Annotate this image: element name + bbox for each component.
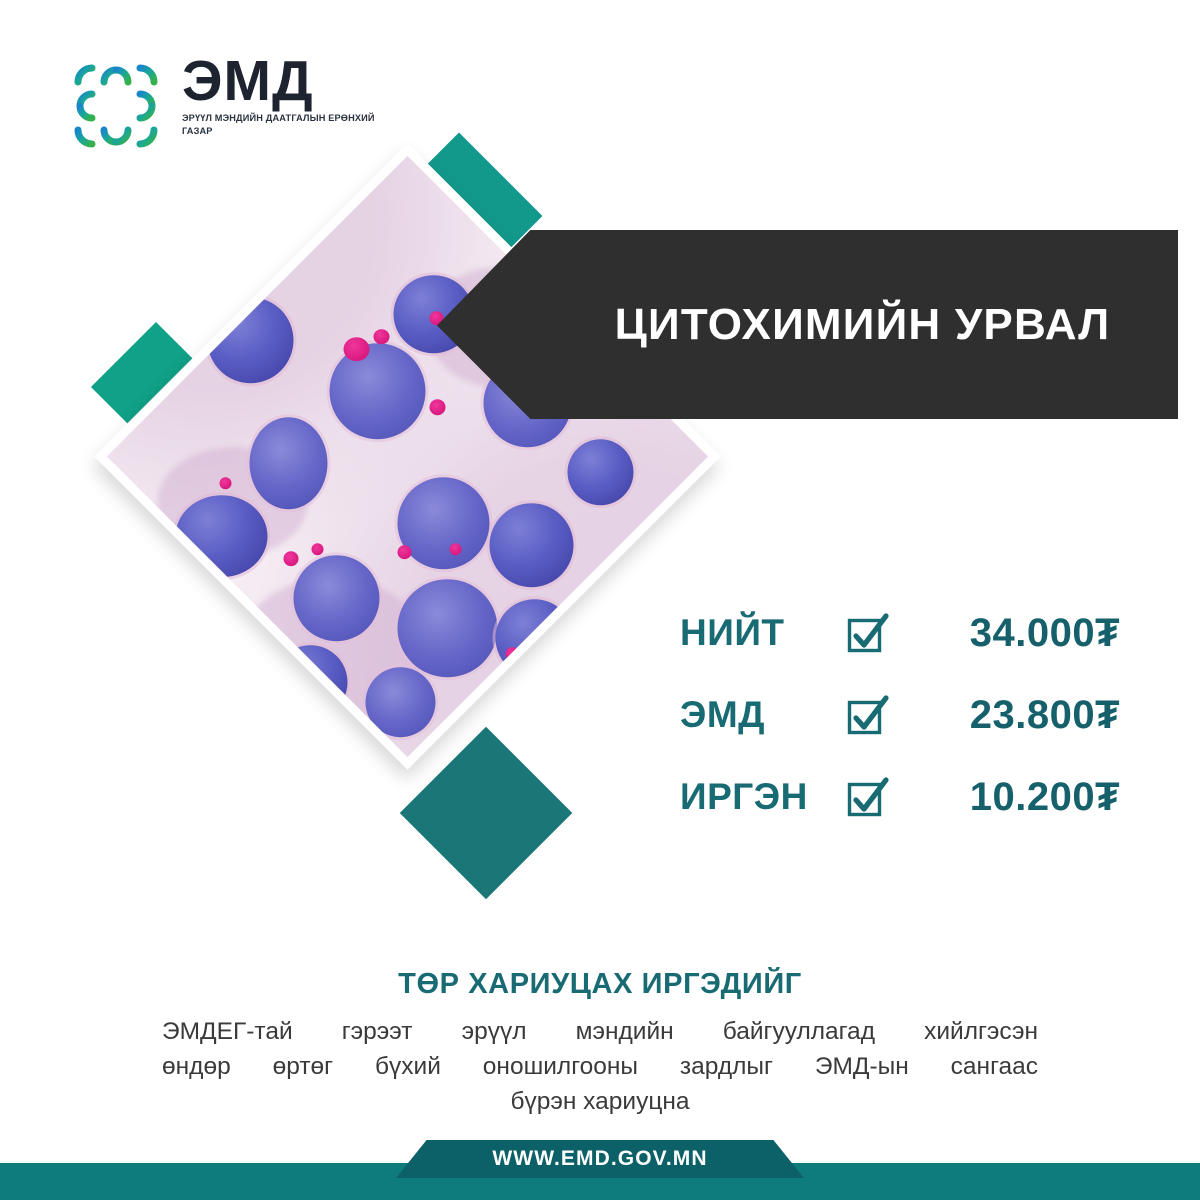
- poster-canvas: ЭМД ЭРҮҮЛ МЭНДИЙН ДААТГАЛЫН ЕРӨНХИЙ ГАЗА…: [0, 0, 1200, 1200]
- title-banner: ЦИТОХИМИЙН УРВАЛ: [437, 230, 1178, 419]
- note-heading: ТӨР ХАРИУЦАХ ИРГЭДИЙГ: [0, 968, 1200, 1001]
- website-url[interactable]: WWW.EMD.GOV.MN: [492, 1147, 707, 1171]
- price-label: ИРГЭН: [680, 776, 840, 818]
- price-value: 34.000₮: [896, 611, 1120, 656]
- note-line-2: өндөр өртөг бүхий оношилгооны зардлыг ЭМ…: [150, 1050, 1050, 1085]
- checkbox-checked-icon: [840, 692, 896, 738]
- price-row: ЭМД 23.800₮: [680, 674, 1120, 756]
- price-row: ИРГЭН 10.200₮: [680, 756, 1120, 838]
- note-line-3: бүрэн хариуцна: [150, 1085, 1050, 1120]
- brand-logo: ЭМД ЭРҮҮЛ МЭНДИЙН ДААТГАЛЫН ЕРӨНХИЙ ГАЗА…: [62, 52, 382, 164]
- checkbox-checked-icon: [840, 774, 896, 820]
- footer-url-plate[interactable]: WWW.EMD.GOV.MN: [396, 1140, 804, 1178]
- page-title: ЦИТОХИМИЙН УРВАЛ: [615, 300, 1111, 350]
- price-row: НИЙТ 34.000₮: [680, 592, 1120, 674]
- decor-diamond-bottom: [400, 727, 573, 900]
- brand-subtitle: ЭРҮҮЛ МЭНДИЙН ДААТГАЛЫН ЕРӨНХИЙ ГАЗАР: [182, 112, 382, 137]
- interlaced-knot-logo-icon: [62, 52, 170, 160]
- price-label: НИЙТ: [680, 612, 840, 654]
- checkbox-checked-icon: [840, 610, 896, 656]
- brand-name: ЭМД: [182, 54, 382, 108]
- price-value: 10.200₮: [896, 775, 1120, 820]
- note-body: ЭМДЕГ-тай гэрээт эрүүл мэндийн байгуулла…: [150, 1015, 1050, 1119]
- price-value: 23.800₮: [896, 693, 1120, 738]
- brand-wordmark: ЭМД ЭРҮҮЛ МЭНДИЙН ДААТГАЛЫН ЕРӨНХИЙ ГАЗА…: [182, 54, 382, 137]
- note-line-1: ЭМДЕГ-тай гэрээт эрүүл мэндийн байгуулла…: [150, 1015, 1050, 1050]
- price-list: НИЙТ 34.000₮ ЭМД 23.800₮ ИРГЭН: [680, 592, 1120, 838]
- price-label: ЭМД: [680, 694, 840, 736]
